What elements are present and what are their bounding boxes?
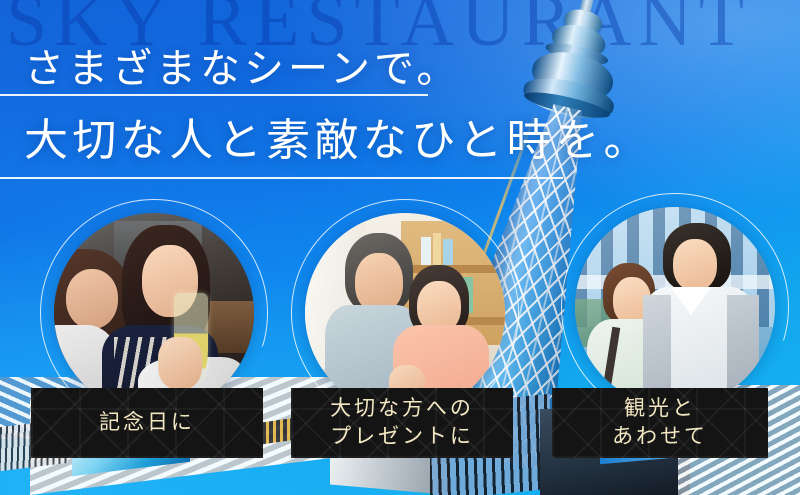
headline-rule-bottom xyxy=(0,177,563,179)
photo2-book-3 xyxy=(443,239,453,265)
photo2-book-2 xyxy=(433,233,441,265)
card-sightseeing[interactable] xyxy=(575,207,775,407)
photo1-woman-left-face xyxy=(66,269,118,329)
caption-plate-anniversary[interactable]: 記念日に xyxy=(31,388,263,458)
headline-line-2: 大切な人と素敵なひと時を。 xyxy=(24,104,652,168)
headline-rule-top xyxy=(0,94,428,96)
caption-plate-sightseeing[interactable]: 観光と あわせて xyxy=(552,388,768,458)
photo2-man-face xyxy=(355,253,403,313)
photo-two-women-toasting-champagne[interactable] xyxy=(54,213,254,413)
photo-young-couple-sightseeing[interactable] xyxy=(575,207,775,407)
photo1-hand xyxy=(158,337,202,389)
caption-text-sightseeing: 観光と あわせて xyxy=(612,395,708,450)
card-gift[interactable] xyxy=(305,213,505,413)
headline-line-1: さまざまなシーンで。 xyxy=(24,36,460,94)
sky-restaurant-banner: SKY RESTAURANT さまざまなシーンで。 xyxy=(0,0,800,495)
caption-text-anniversary: 記念日に xyxy=(99,409,195,437)
caption-text-gift: 大切な方への プレゼントに xyxy=(330,395,474,450)
photo2-book-1 xyxy=(421,237,431,265)
card-anniversary[interactable] xyxy=(54,213,254,413)
caption-plate-gift[interactable]: 大切な方への プレゼントに xyxy=(291,388,513,458)
photo3-man-face xyxy=(673,239,717,291)
photo-middle-aged-couple-smiling[interactable] xyxy=(305,213,505,413)
